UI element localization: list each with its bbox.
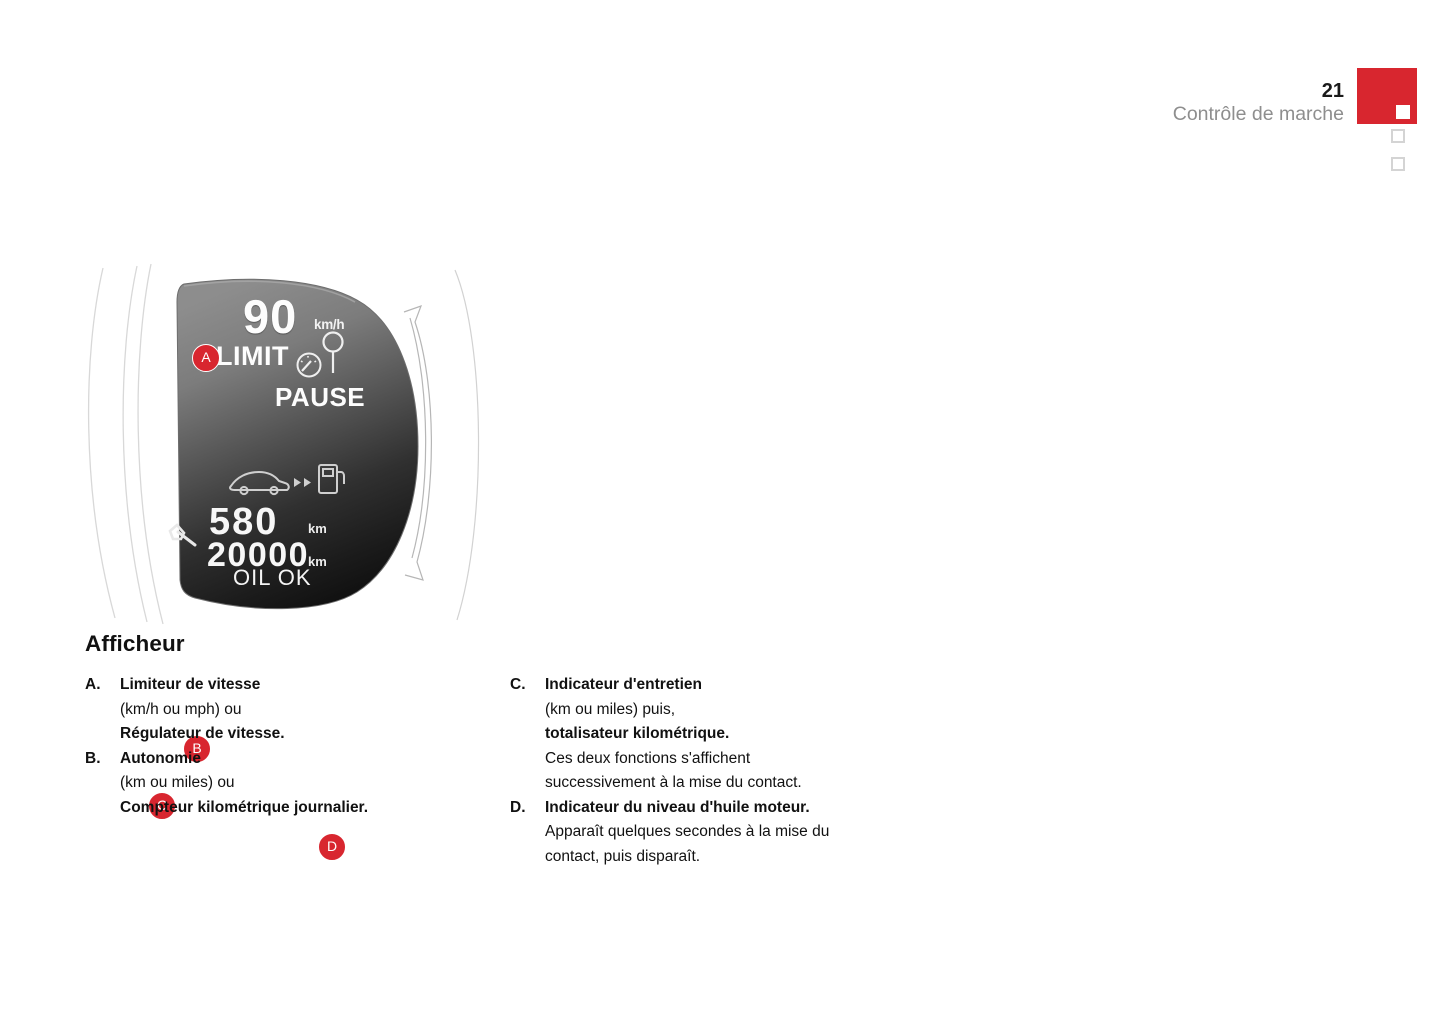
legend-line: Indicateur d'entretien — [545, 673, 930, 698]
legend-line: successivement à la mise du contact. — [545, 771, 930, 796]
chapter-tab-marker-3 — [1391, 157, 1405, 171]
legend-column-right: C.Indicateur d'entretien(km ou miles) pu… — [510, 673, 930, 869]
legend-entry-key: B. — [85, 747, 101, 772]
legend-entry-lines: Limiteur de vitesse(km/h ou mph) ouRégul… — [85, 673, 485, 747]
callout-badge-d: D — [318, 833, 346, 861]
legend-line: Autonomie — [120, 747, 485, 772]
legend-entry: B.Autonomie(km ou miles) ouCompteur kilo… — [85, 747, 485, 821]
legend-line: Ces deux fonctions s'affichent — [545, 747, 930, 772]
decorative-arc-group-right — [455, 270, 479, 620]
legend-entry: A.Limiteur de vitesse(km/h ou mph) ouRég… — [85, 673, 485, 747]
legend-line: Indicateur du niveau d'huile moteur. — [545, 796, 930, 821]
legend-line: totalisateur kilométrique. — [545, 722, 930, 747]
cluster-screen-panel — [177, 279, 418, 608]
page-header: 21 Contrôle de marche — [0, 68, 1445, 178]
legend-line: (km ou miles) puis, — [545, 698, 930, 723]
legend-entry-key: D. — [510, 796, 526, 821]
callout-badge-a: A — [192, 344, 220, 372]
legend-line: contact, puis disparaît. — [545, 845, 930, 870]
page-title: Afficheur — [85, 631, 185, 657]
legend-line: (km/h ou mph) ou — [120, 698, 485, 723]
legend-entry: D.Indicateur du niveau d'huile moteur.Ap… — [510, 796, 930, 870]
legend-entry-key: A. — [85, 673, 101, 698]
header-text-block: 21 Contrôle de marche — [1173, 80, 1344, 126]
decorative-arc-group-left — [89, 264, 163, 624]
legend-entry-lines: Indicateur d'entretien(km ou miles) puis… — [510, 673, 930, 796]
legend-column-left: A.Limiteur de vitesse(km/h ou mph) ouRég… — [85, 673, 485, 820]
legend-line: Régulateur de vitesse. — [120, 722, 485, 747]
legend-line: Limiteur de vitesse — [120, 673, 485, 698]
legend-line: Apparaît quelques secondes à la mise du — [545, 820, 930, 845]
legend-line: (km ou miles) ou — [120, 771, 485, 796]
page-number: 21 — [1173, 80, 1344, 102]
instrument-cluster-illustration: 90 km/h LIMIT PAUSE 580 km 20000 km OIL … — [85, 262, 495, 627]
legend-line: Compteur kilométrique journalier. — [120, 796, 485, 821]
cluster-graphic — [85, 262, 495, 627]
chapter-tab-marker-inner-square — [1396, 105, 1410, 119]
legend-entry-lines: Autonomie(km ou miles) ouCompteur kilomé… — [85, 747, 485, 821]
legend-entry-lines: Indicateur du niveau d'huile moteur.Appa… — [510, 796, 930, 870]
legend-entry: C.Indicateur d'entretien(km ou miles) pu… — [510, 673, 930, 796]
section-title: Contrôle de marche — [1173, 102, 1344, 126]
chapter-tab-marker-active — [1357, 68, 1417, 124]
chapter-tab-marker-2 — [1391, 129, 1405, 143]
legend-entry-key: C. — [510, 673, 526, 698]
